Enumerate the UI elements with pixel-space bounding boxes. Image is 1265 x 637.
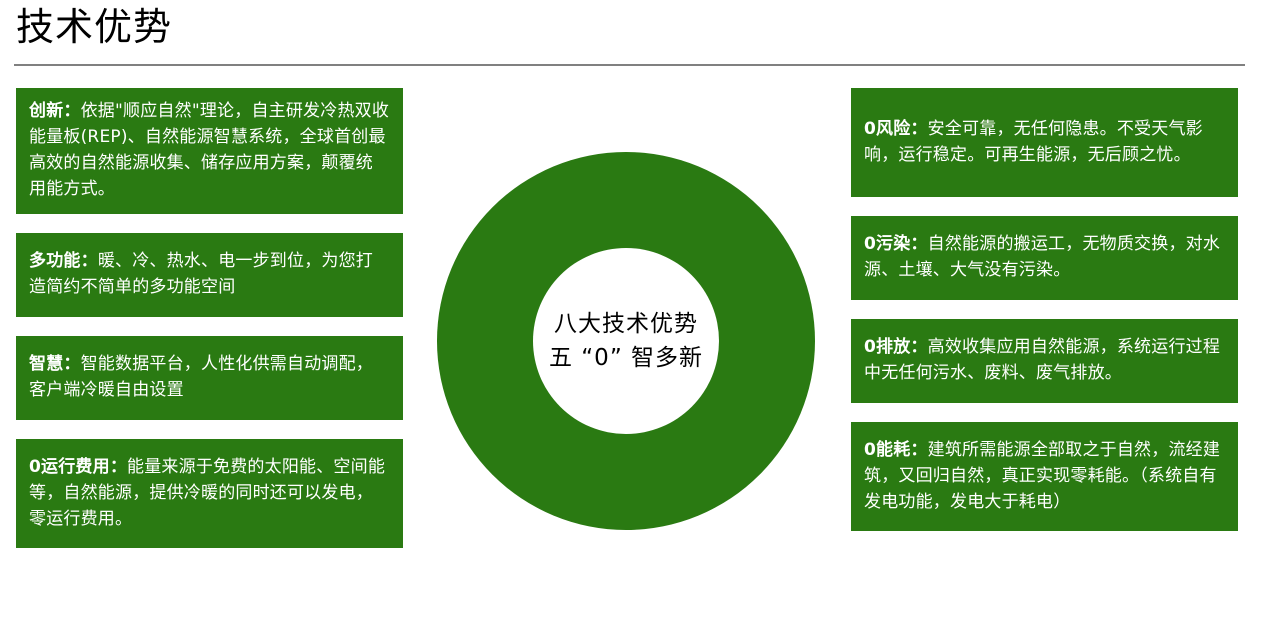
right-advantage-column: 0风险：安全可靠，无任何隐患。不受天气影响，运行稳定。可再生能源，无后顾之忧。 … bbox=[851, 88, 1238, 550]
advantage-card-body: 智能数据平台，人性化供需自动调配，客户端冷暖自由设置 bbox=[29, 354, 373, 400]
advantage-card-text: 0运行费用：能量来源于免费的太阳能、空间能等，自然能源，提供冷暖的同时还可以发电… bbox=[29, 454, 390, 532]
donut-center-line-2: 五 “0” 智多新 bbox=[549, 341, 703, 375]
advantage-card-zero-emission: 0排放：高效收集应用自然能源，系统运行过程中无任何污水、废料、废气排放。 bbox=[851, 319, 1238, 403]
advantage-card-lead: 0污染： bbox=[864, 234, 928, 254]
advantage-card-text: 0风险：安全可靠，无任何隐患。不受天气影响，运行稳定。可再生能源，无后顾之忧。 bbox=[864, 116, 1225, 168]
donut-center-line-1: 八大技术优势 bbox=[554, 307, 698, 341]
technical-advantages-slide: 技术优势 创新：依据"顺应自然"理论，自主研发冷热双收能量板(REP)、自然能源… bbox=[0, 0, 1265, 637]
advantage-card-lead: 智慧： bbox=[29, 354, 81, 374]
center-donut-chart: 八大技术优势 五 “0” 智多新 bbox=[437, 152, 815, 530]
advantage-card-text: 智慧：智能数据平台，人性化供需自动调配，客户端冷暖自由设置 bbox=[29, 351, 390, 403]
advantage-card-text: 0污染：自然能源的搬运工，无物质交换，对水源、土壤、大气没有污染。 bbox=[864, 231, 1225, 283]
advantage-card-multifunction: 多功能：暖、冷、热水、电一步到位，为您打造简约不简单的多功能空间 bbox=[16, 233, 403, 317]
advantage-card-intelligence: 智慧：智能数据平台，人性化供需自动调配，客户端冷暖自由设置 bbox=[16, 336, 403, 420]
advantage-card-lead: 多功能： bbox=[29, 251, 98, 271]
advantage-card-zero-pollution: 0污染：自然能源的搬运工，无物质交换，对水源、土壤、大气没有污染。 bbox=[851, 216, 1238, 300]
advantage-card-zero-risk: 0风险：安全可靠，无任何隐患。不受天气影响，运行稳定。可再生能源，无后顾之忧。 bbox=[851, 88, 1238, 197]
advantage-card-zero-energy-consumption: 0能耗：建筑所需能源全部取之于自然，流经建筑，又回归自然，真正实现零耗能。（系统… bbox=[851, 422, 1238, 531]
advantage-card-lead: 0风险： bbox=[864, 119, 928, 139]
advantage-card-zero-operating-cost: 0运行费用：能量来源于免费的太阳能、空间能等，自然能源，提供冷暖的同时还可以发电… bbox=[16, 439, 403, 548]
advantage-card-text: 0排放：高效收集应用自然能源，系统运行过程中无任何污水、废料、废气排放。 bbox=[864, 334, 1225, 386]
donut-center-label: 八大技术优势 五 “0” 智多新 bbox=[533, 248, 719, 434]
title-divider bbox=[14, 64, 1245, 66]
advantage-card-body: 依据"顺应自然"理论，自主研发冷热双收能量板(REP)、自然能源智慧系统，全球首… bbox=[29, 101, 389, 199]
page-title: 技术优势 bbox=[16, 4, 172, 50]
advantage-card-lead: 0能耗： bbox=[864, 440, 928, 460]
left-advantage-column: 创新：依据"顺应自然"理论，自主研发冷热双收能量板(REP)、自然能源智慧系统，… bbox=[16, 88, 403, 567]
advantage-card-lead: 0排放： bbox=[864, 337, 928, 357]
advantage-card-lead: 0运行费用： bbox=[29, 457, 127, 477]
advantage-card-text: 创新：依据"顺应自然"理论，自主研发冷热双收能量板(REP)、自然能源智慧系统，… bbox=[29, 98, 390, 202]
advantage-card-text: 多功能：暖、冷、热水、电一步到位，为您打造简约不简单的多功能空间 bbox=[29, 248, 390, 300]
advantage-card-lead: 创新： bbox=[29, 101, 81, 121]
advantage-card-text: 0能耗：建筑所需能源全部取之于自然，流经建筑，又回归自然，真正实现零耗能。（系统… bbox=[864, 437, 1225, 515]
advantage-card-innovation: 创新：依据"顺应自然"理论，自主研发冷热双收能量板(REP)、自然能源智慧系统，… bbox=[16, 88, 403, 214]
